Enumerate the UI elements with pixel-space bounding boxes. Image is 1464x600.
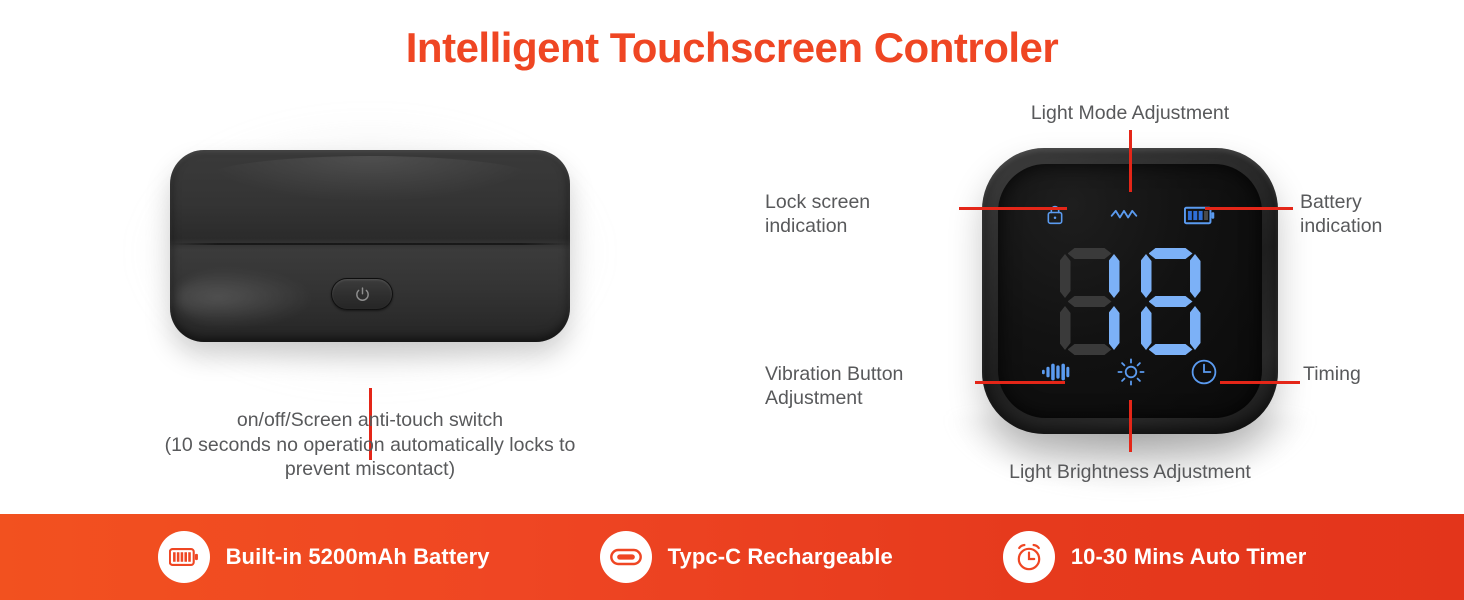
segment-e: [1141, 306, 1152, 350]
clock-icon[interactable]: [1190, 358, 1218, 386]
alarm-clock-icon: [1003, 531, 1055, 583]
power-icon: [354, 286, 371, 303]
annotation-light-mode-adjustment: Light Mode Adjustment: [975, 101, 1285, 125]
leader-line-brightness: [1129, 400, 1132, 452]
device-highlight-left: [176, 268, 316, 328]
feature-item-type-c: Typc-C Rechargeable: [600, 531, 893, 583]
segment-c: [1190, 306, 1201, 350]
caption-line-2: (10 seconds no operation automatically l…: [110, 433, 630, 458]
battery-icon: [158, 531, 210, 583]
device-seam: [170, 243, 570, 245]
infographic-root: Intelligent Touchscreen Controler: [0, 0, 1464, 600]
device-highlight-top: [202, 156, 538, 202]
wave-icon[interactable]: [1110, 206, 1138, 224]
vibration-bars-icon[interactable]: [1042, 362, 1072, 382]
segment-e: [1060, 306, 1071, 350]
touchscreen-display[interactable]: [998, 164, 1262, 418]
segment-g: [1068, 296, 1112, 307]
annotation-light-brightness-adjustment: Light Brightness Adjustment: [940, 460, 1320, 484]
segment-a: [1149, 248, 1193, 259]
feature-label-auto-timer: 10-30 Mins Auto Timer: [1071, 544, 1307, 570]
segment-f: [1141, 254, 1152, 298]
feature-item-battery: Built-in 5200mAh Battery: [158, 531, 490, 583]
feature-banner: Built-in 5200mAh Battery Typc-C Recharge…: [0, 514, 1464, 600]
digit-tens: [1058, 248, 1122, 356]
segment-c: [1109, 306, 1120, 350]
annotation-lock-screen-indication: Lock screen indication: [765, 190, 955, 238]
segment-f: [1060, 254, 1071, 298]
sun-icon[interactable]: [1117, 358, 1145, 386]
controller-side-view: [170, 150, 570, 350]
right-product-panel: Lock screen indication Light Mode Adjust…: [730, 0, 1464, 510]
usb-type-c-icon: [600, 531, 652, 583]
power-button[interactable]: [331, 278, 393, 310]
feature-item-auto-timer: 10-30 Mins Auto Timer: [1003, 531, 1307, 583]
annotation-timing: Timing: [1303, 362, 1443, 386]
leader-line-battery: [1205, 207, 1293, 210]
caption-line-1: on/off/Screen anti-touch switch: [110, 408, 630, 433]
segment-b: [1190, 254, 1201, 298]
annotation-vibration-button-adjustment: Vibration Button Adjustment: [765, 362, 970, 410]
segment-g: [1149, 296, 1193, 307]
leader-line-light-mode: [1129, 130, 1132, 192]
annotation-battery-indication: Battery indication: [1300, 190, 1464, 238]
segment-d: [1149, 344, 1193, 355]
digit-ones: [1139, 248, 1203, 356]
leader-line-vibration: [975, 381, 1065, 384]
timer-digits: [998, 248, 1262, 356]
feature-label-type-c: Typc-C Rechargeable: [668, 544, 893, 570]
segment-b: [1109, 254, 1120, 298]
feature-label-battery: Built-in 5200mAh Battery: [226, 544, 490, 570]
power-button-caption: on/off/Screen anti-touch switch (10 seco…: [110, 408, 630, 482]
segment-a: [1068, 248, 1112, 259]
caption-line-3: prevent miscontact): [110, 457, 630, 482]
device-side-body: [170, 150, 570, 342]
leader-line-lock: [959, 207, 1067, 210]
leader-line-timing: [1220, 381, 1300, 384]
left-product-panel: on/off/Screen anti-touch switch (10 seco…: [0, 100, 730, 500]
segment-d: [1068, 344, 1112, 355]
